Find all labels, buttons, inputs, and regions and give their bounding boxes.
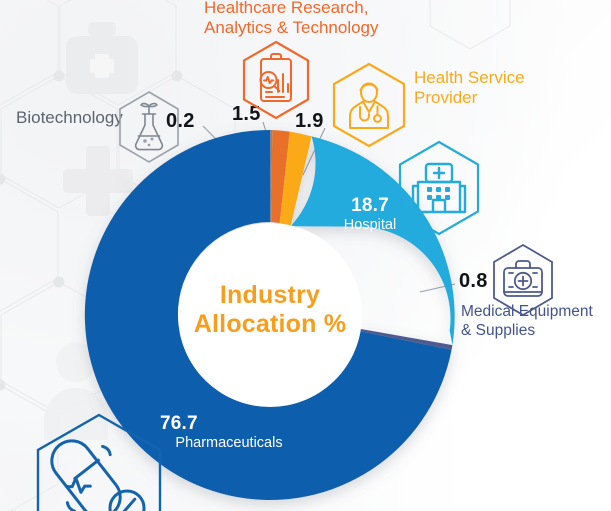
callout-value-medical-equipment: 0.8 — [459, 270, 488, 293]
chart-center-title: Industry Allocation % — [160, 281, 380, 339]
callout-label-healthcare-research: Healthcare Research, Analytics & Technol… — [204, 0, 404, 39]
hospital-icon[interactable] — [396, 140, 482, 236]
clipboard-analytics-icon[interactable] — [240, 40, 312, 120]
infographic-canvas: Industry Allocation % 18.7 Hospital 76.7… — [0, 0, 611, 511]
doctor-icon[interactable] — [330, 62, 408, 148]
medical-kit-icon[interactable] — [490, 243, 556, 317]
center-title-line2: Allocation % — [160, 310, 380, 339]
center-title-line1: Industry — [160, 281, 380, 310]
flask-icon[interactable] — [116, 90, 182, 164]
pill-capsule-icon[interactable] — [34, 412, 164, 511]
callout-label-health-service-provider: Health Service Provider — [414, 68, 564, 109]
